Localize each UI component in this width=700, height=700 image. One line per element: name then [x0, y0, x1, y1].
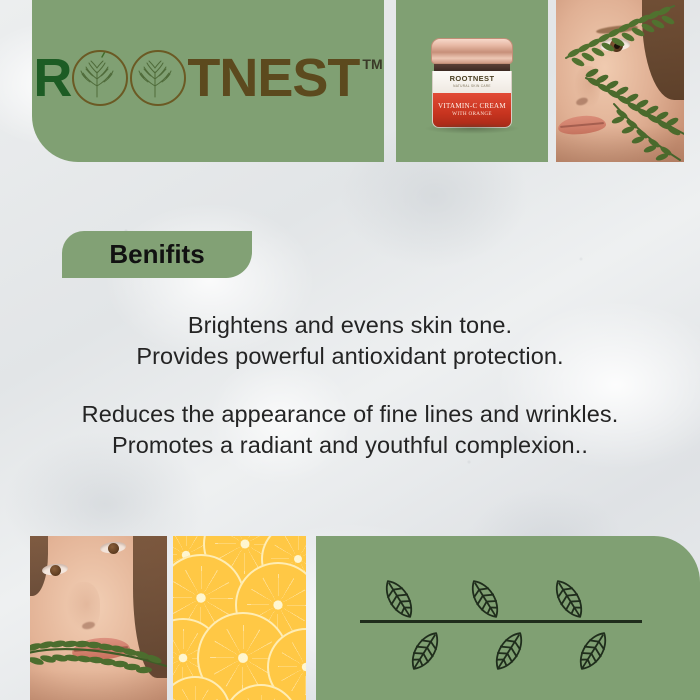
- jar-shadow: [424, 123, 520, 134]
- bottom-model-iris-right: [108, 543, 119, 554]
- jar-product-subtitle: WITH ORANGE: [452, 112, 492, 117]
- brand-lockup: R: [33, 50, 382, 106]
- jar-body: ROOTNEST NATURAL SKIN CARE VITAMIN-C CRE…: [432, 71, 512, 128]
- leaf-icon: [462, 576, 508, 627]
- trademark-symbol: TM: [362, 56, 382, 72]
- leaf-icon: [486, 628, 532, 679]
- product-jar: ROOTNEST NATURAL SKIN CARE VITAMIN-C CRE…: [431, 38, 513, 128]
- paragraph-spacer: [0, 373, 700, 399]
- fern-frond-icon: [608, 102, 684, 162]
- leaf-icon: [570, 628, 616, 679]
- bottom-model-iris-left: [50, 565, 61, 576]
- brand-letter-t: T: [187, 51, 219, 105]
- poster-canvas: R: [0, 0, 700, 700]
- logo-tree-circle-1: [72, 50, 128, 106]
- fern-frond-icon: [30, 632, 167, 683]
- benefits-badge-label: Benifits: [109, 239, 204, 270]
- logo-tree-circle-2: [130, 50, 186, 106]
- jar-product-title: VITAMIN-C CREAM: [438, 103, 506, 110]
- leaf-pattern-panel: [316, 536, 700, 700]
- orange-slices-photo: [173, 536, 306, 700]
- leaf-icon: [376, 576, 422, 627]
- benefits-text-block: Brightens and evens skin tone. Provides …: [0, 310, 700, 461]
- top-model-photo: [556, 0, 684, 162]
- brand-letter-r: R: [33, 51, 71, 105]
- bottom-model-photo: [30, 536, 167, 700]
- jar-label-top: ROOTNEST NATURAL SKIN CARE: [433, 71, 511, 93]
- brand-wordmark: R: [33, 50, 359, 106]
- jar-tagline: NATURAL SKIN CARE: [453, 84, 491, 88]
- logo-panel: R: [32, 0, 384, 162]
- benefit-line: Promotes a radiant and youthful complexi…: [0, 430, 700, 461]
- jar-brand-name: ROOTNEST: [450, 75, 495, 83]
- benefit-line: Brightens and evens skin tone.: [0, 310, 700, 341]
- jar-neck: [434, 64, 510, 71]
- jar-label-bottom: VITAMIN-C CREAM WITH ORANGE: [433, 93, 511, 127]
- benefit-line: Reduces the appearance of fine lines and…: [0, 399, 700, 430]
- leaf-icon: [546, 576, 592, 627]
- jar-lid: [431, 38, 513, 64]
- leaf-icon: [402, 628, 448, 679]
- product-image-panel: ROOTNEST NATURAL SKIN CARE VITAMIN-C CRE…: [396, 0, 548, 162]
- benefits-section-badge: Benifits: [62, 231, 252, 278]
- brand-text-nest: NEST: [219, 51, 359, 105]
- benefit-line: Provides powerful antioxidant protection…: [0, 341, 700, 372]
